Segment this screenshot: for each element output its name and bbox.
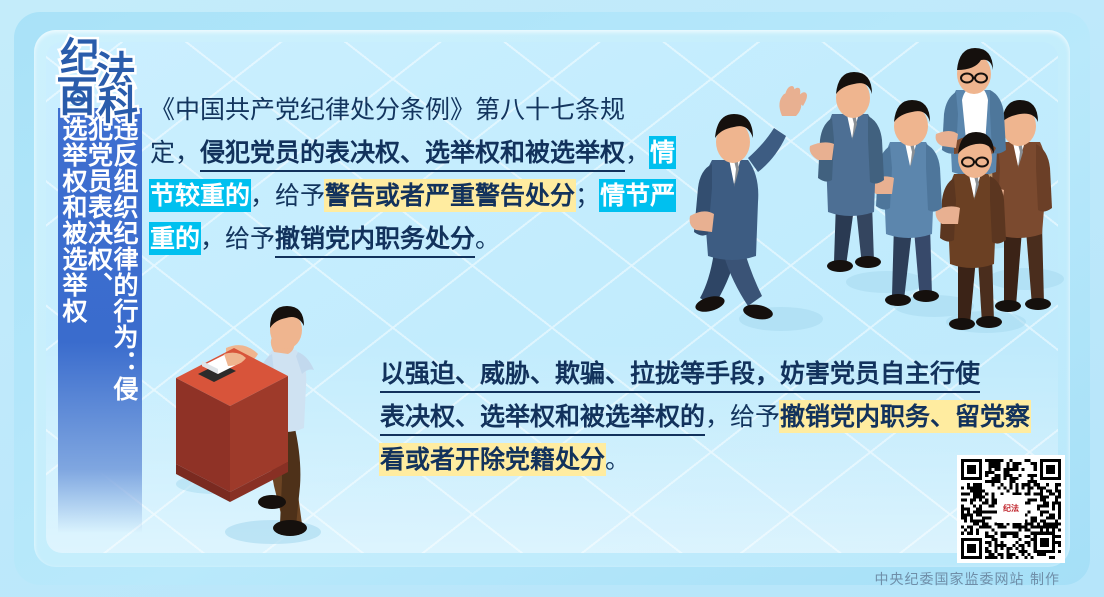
paragraph2-line3: 看或者开除党籍处分。 [380,438,1010,481]
p1-l1-s1: 《中国共产党纪律处分条例》第八十七条规 [150,95,625,124]
p1-l4-s4: 。 [475,224,500,253]
p2-l1-s1: 以强迫、威胁、欺骗、拉拢等手段，妨害党员自主行使 [380,359,980,393]
p1-l4-s1: 重的 [150,223,200,254]
regulation-paragraph-2: 以强迫、威胁、欺骗、拉拢等手段，妨害党员自主行使 表决权、选举权和被选举权的，给… [380,352,1010,481]
qr-center-logo: 纪法 [997,495,1025,523]
paragraph1-line1: 《中国共产党纪律处分条例》第八十七条规 [150,88,690,131]
banner-column-left: 选举权和被选举权 [61,116,87,526]
p1-l4-s2: ，给予 [200,224,275,253]
p1-l3-s5: 情节严 [600,180,675,211]
p2-l2-s2: ，给予 [705,402,780,431]
p1-l3-s3: 警告或者严重警告处分 [325,180,575,211]
p1-l2-s1: 定， [150,138,200,167]
p2-l3-s2: 。 [605,445,630,474]
p1-l3-s2: ，给予 [250,181,325,210]
paragraph2-line1: 以强迫、威胁、欺骗、拉拢等手段，妨害党员自主行使 [380,352,1010,395]
p2-l3-s1: 看或者开除党籍处分 [380,444,605,475]
p1-l2-s4: 情 [650,137,675,168]
p1-l3-s1: 节较重的 [150,180,250,211]
footer-credit: 中央纪委国家监委网站 制作 [875,569,1060,589]
illustration-people-group [686,34,1086,334]
vertical-title-banner: 违反组织纪律的行为：侵犯党员表决权、 选举权和被选举权 [58,108,142,533]
play-icon [70,90,86,106]
paragraph1-line2: 定，侵犯党员的表决权、选举权和被选举权，情 [150,131,690,174]
qr-code[interactable]: 纪法 [957,455,1065,563]
p1-l4-s3: 撤销党内职务处分 [275,224,475,258]
p2-l2-s1: 表决权、选举权和被选举权的 [380,402,705,436]
banner-column-right: 违反组织纪律的行为：侵犯党员表决权、 [86,116,137,421]
illustration-ballot-voter [168,306,358,556]
regulation-paragraph-1: 《中国共产党纪律处分条例》第八十七条规 定，侵犯党员的表决权、选举权和被选举权，… [150,88,690,260]
p2-l2-s3: 撤销党内职务、留党察 [780,401,1030,432]
p1-l2-s3: ， [625,138,650,167]
p1-l3-s4: ； [575,181,600,210]
paragraph1-line4: 重的，给予撤销党内职务处分。 [150,217,690,260]
brand-logo: 纪 法 百 科 [52,36,162,126]
poster-canvas: 纪 法 百 科 违反组织纪律的行为：侵犯党员表决权、 选举权和被选举权 《中国共… [0,0,1104,597]
p1-l2-s2: 侵犯党员的表决权、选举权和被选举权 [200,138,625,172]
paragraph1-line3: 节较重的，给予警告或者严重警告处分；情节严 [150,174,690,217]
paragraph2-line2: 表决权、选举权和被选举权的，给予撤销党内职务、留党察 [380,395,1010,438]
logo-char-ke: 科 [98,86,138,126]
